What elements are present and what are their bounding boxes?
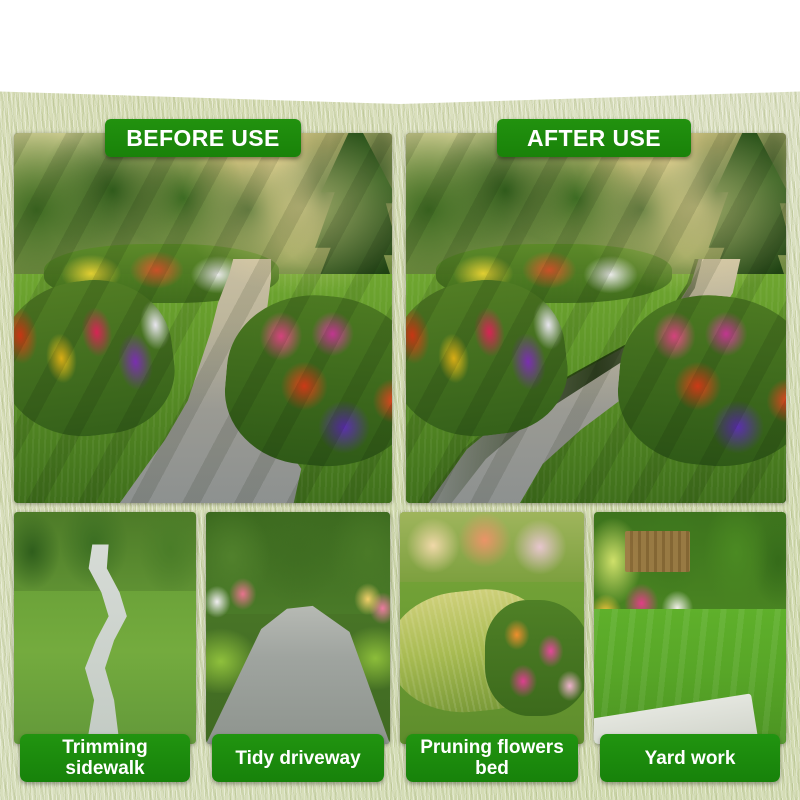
- after-garden-scene: [406, 133, 786, 503]
- thumbnail-pruning-flowers-bed: [400, 512, 584, 744]
- header-banner: [0, 0, 800, 104]
- caption-pruning-flowers-bed: Pruning flowers bed: [406, 734, 578, 782]
- thumbnail-tidy-driveway: [206, 512, 390, 744]
- yard-scene: [594, 512, 786, 744]
- after-use-badge: AFTER USE: [497, 119, 691, 157]
- distant-flower-border: [400, 512, 584, 582]
- caption-tidy-driveway: Tidy driveway: [212, 734, 384, 782]
- before-photo: [14, 133, 392, 503]
- product-marketing-poster: Versatile Yard Tool for All Uses Ideal f…: [0, 0, 800, 800]
- sidewalk-scene: [14, 512, 196, 744]
- thumbnail-trimming-sidewalk: [14, 512, 196, 744]
- after-photo: [406, 133, 786, 503]
- caption-yard-work: Yard work: [600, 734, 780, 782]
- flower-bed-scene: [400, 512, 584, 744]
- driveway-scene: [206, 512, 390, 744]
- thumbnail-yard-work: [594, 512, 786, 744]
- caption-trimming-sidewalk: Trimming sidewalk: [20, 734, 190, 782]
- wooden-fence: [625, 531, 690, 573]
- before-garden-scene: [14, 133, 392, 503]
- before-use-badge: BEFORE USE: [105, 119, 301, 157]
- pink-perennial-bed: [485, 600, 584, 716]
